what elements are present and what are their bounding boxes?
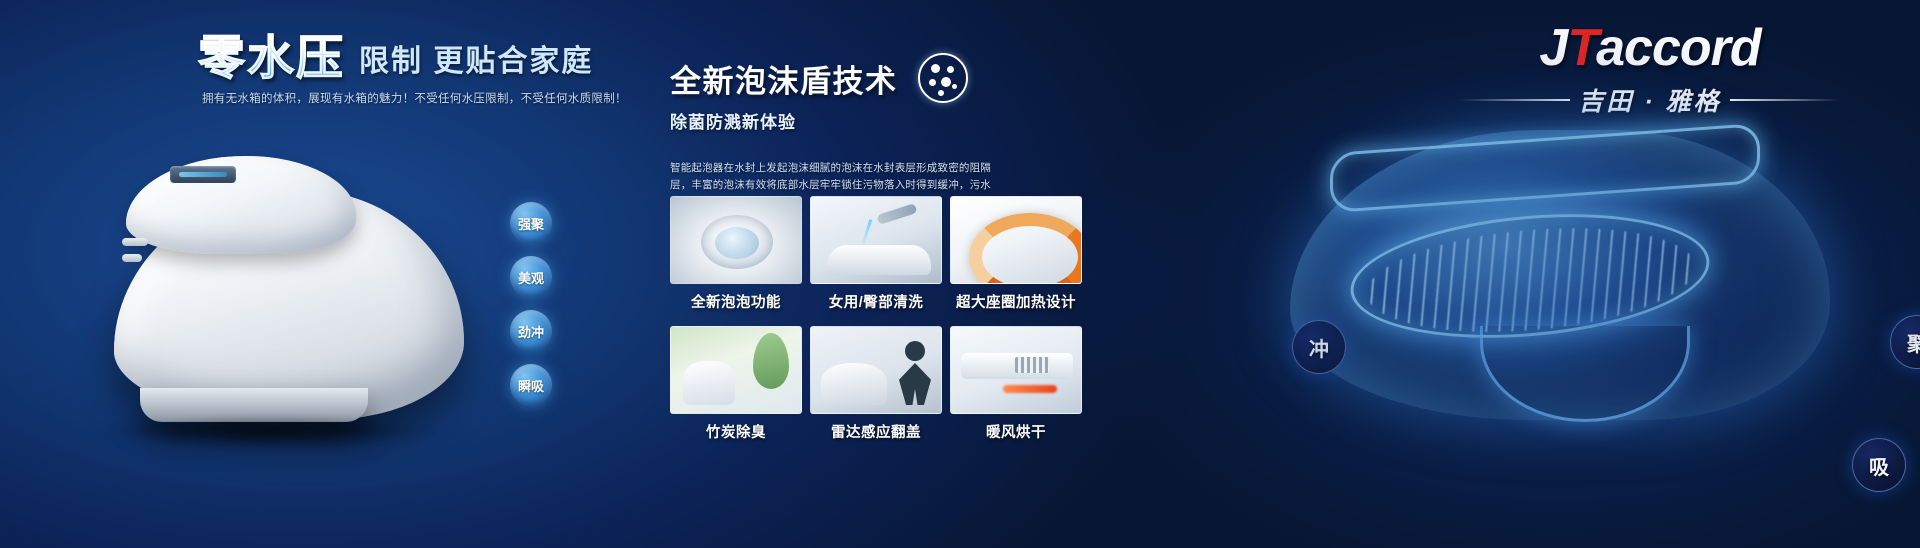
feature-cell-1[interactable]: 女用/臀部清洗 [810, 196, 942, 312]
middle-title-row: 全新泡沫盾技术 [670, 53, 968, 103]
bamboo-charcoal-deodorize-photo[interactable] [670, 326, 802, 414]
warm-air-dryer-photo[interactable] [950, 326, 1082, 414]
feature-caption-3: 竹炭除臭 [670, 421, 802, 442]
feature-caption-0: 全新泡泡功能 [670, 291, 802, 312]
side-button-icon [122, 238, 148, 246]
left-description: 拥有无水箱的体积，展现有水箱的魅力！不受任何水压限制，不受任何水质限制！ [202, 90, 602, 106]
foam-bubbles-icon [918, 53, 968, 103]
middle-title: 全新泡沫盾技术 [670, 56, 898, 101]
feature-cell-3[interactable]: 竹炭除臭 [670, 326, 802, 442]
control-panel-icon [170, 166, 236, 183]
feature-cell-4[interactable]: 雷达感应翻盖 [810, 326, 942, 442]
callout-ju[interactable]: 聚 [1890, 315, 1920, 369]
feature-caption-5: 暖风烘干 [950, 421, 1082, 442]
feature-badge-list: 强聚 美观 劲冲 瞬吸 [510, 202, 552, 418]
feature-cell-2[interactable]: 超大座圈加热设计 [950, 196, 1082, 312]
brand-logo-cn: 吉田 · 雅格 [1578, 82, 1721, 118]
side-button-secondary-icon [122, 254, 142, 262]
brand-logo-accord: accord [1596, 19, 1761, 77]
feature-badge-2[interactable]: 劲冲 [510, 310, 552, 352]
feature-grid-row-1: 全新泡泡功能 女用/臀部清洗 超大座圈加热设计 [670, 196, 1082, 312]
logo-rule-left [1460, 99, 1570, 101]
toilet-xray-cutaway-render: 冲 聚 吸 [1270, 120, 1850, 450]
bidet-nozzle-photo[interactable] [810, 196, 942, 284]
left-headline: 零水压 限制 更贴合家庭 [198, 34, 593, 81]
callout-chong[interactable]: 冲 [1292, 320, 1346, 374]
brand-logo-wordmark: JTaccord [1460, 22, 1840, 74]
toilet-bowl-foam-photo[interactable] [670, 196, 802, 284]
headline-primary: 零水压 [198, 34, 345, 81]
toilet-lid [126, 156, 356, 254]
brand-logo-cn-row: 吉田 · 雅格 [1460, 82, 1840, 118]
middle-subtitle: 除菌防溅新体验 [670, 108, 796, 133]
feature-badge-0[interactable]: 强聚 [510, 202, 552, 244]
heated-seat-ring-photo[interactable] [950, 196, 1082, 284]
logo-rule-right [1730, 99, 1840, 101]
smart-toilet-product-photo [104, 130, 464, 430]
brand-logo-jt: JT [1539, 19, 1596, 77]
promo-banner: 零水压 限制 更贴合家庭 拥有无水箱的体积，展现有水箱的魅力！不受任何水压限制，… [0, 0, 1920, 548]
headline-secondary: 限制 更贴合家庭 [359, 47, 593, 81]
feature-caption-2: 超大座圈加热设计 [950, 291, 1082, 312]
left-panel: 零水压 限制 更贴合家庭 拥有无水箱的体积，展现有水箱的魅力！不受任何水压限制，… [0, 0, 640, 548]
feature-badge-3[interactable]: 瞬吸 [510, 364, 552, 406]
feature-badge-1[interactable]: 美观 [510, 256, 552, 298]
brand-logo[interactable]: JTaccord 吉田 · 雅格 [1460, 22, 1840, 118]
feature-caption-4: 雷达感应翻盖 [810, 421, 942, 442]
feature-caption-1: 女用/臀部清洗 [810, 291, 942, 312]
callout-xi[interactable]: 吸 [1852, 438, 1906, 492]
feature-grid-row-2: 竹炭除臭 雷达感应翻盖 暖风烘干 [670, 326, 1082, 442]
right-panel: JTaccord 吉田 · 雅格 冲 聚 吸 [1120, 0, 1920, 548]
feature-grid: 全新泡泡功能 女用/臀部清洗 超大座圈加热设计 竹炭除臭 [670, 196, 1082, 448]
feature-cell-5[interactable]: 暖风烘干 [950, 326, 1082, 442]
product-shadow [104, 416, 434, 446]
radar-sensor-lid-photo[interactable] [810, 326, 942, 414]
feature-cell-0[interactable]: 全新泡泡功能 [670, 196, 802, 312]
